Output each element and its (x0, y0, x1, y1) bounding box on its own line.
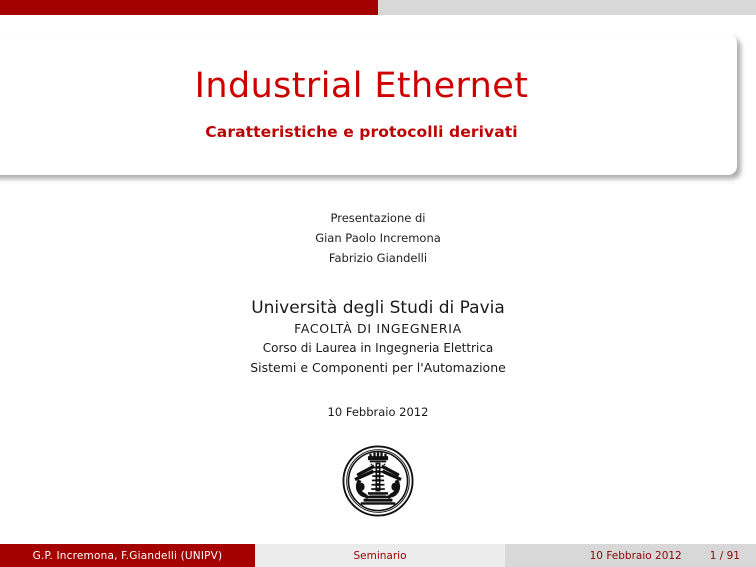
footer-page-number: 1 / 91 (710, 550, 740, 562)
page-subtitle: Caratteristiche e protocolli derivati (205, 123, 517, 141)
grey-decoration-bar (378, 0, 756, 15)
institute-block: Università degli Studi di Pavia FACOLTÀ … (0, 297, 756, 378)
author-name-2: Fabrizio Giandelli (0, 248, 756, 268)
slide-footer: G.P. Incremona, F.Giandelli (UNIPV) Semi… (0, 544, 756, 567)
footer-date: 10 Febbraio 2012 (590, 550, 682, 562)
title-block: Industrial Ethernet Caratteristiche e pr… (0, 34, 737, 175)
slide-body: Presentazione di Gian Paolo Incremona Fa… (0, 208, 756, 517)
institute-university: Università degli Studi di Pavia (0, 297, 756, 319)
institute-department: Sistemi e Componenti per l'Automazione (0, 358, 756, 378)
university-of-pavia-seal-icon (342, 445, 414, 517)
author-name-1: Gian Paolo Incremona (0, 228, 756, 248)
authors-intro: Presentazione di (0, 208, 756, 228)
institute-course: Corso di Laurea in Ingegneria Elettrica (0, 338, 756, 358)
logo-container (0, 445, 756, 517)
footer-section: Seminario (255, 544, 505, 567)
institute-faculty: FACOLTÀ DI INGEGNERIA (0, 319, 756, 338)
footer-right: 10 Febbraio 2012 1 / 91 (505, 544, 756, 567)
slide-header-bar (0, 0, 756, 15)
presentation-date: 10 Febbraio 2012 (0, 405, 756, 419)
page-title: Industrial Ethernet (195, 67, 529, 106)
footer-authors: G.P. Incremona, F.Giandelli (UNIPV) (0, 544, 255, 567)
authors-block: Presentazione di Gian Paolo Incremona Fa… (0, 208, 756, 268)
red-decoration-bar (0, 0, 378, 15)
